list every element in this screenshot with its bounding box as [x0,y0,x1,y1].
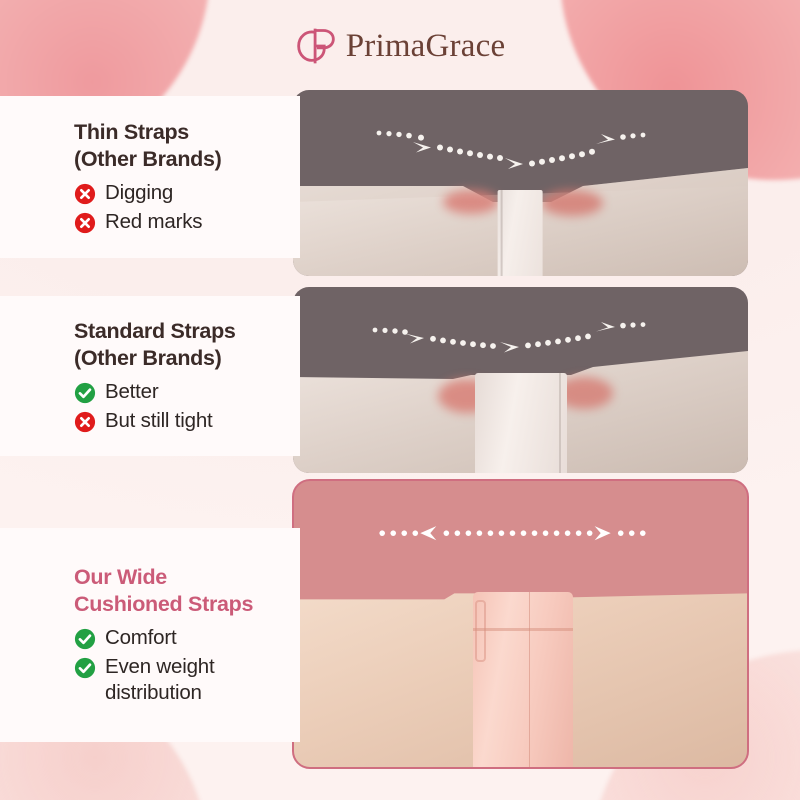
photo-wide-cushioned-straps [294,481,747,767]
promo-infographic: PrimaGrace [0,0,800,800]
photo-panel-standard-straps [293,287,748,473]
bullet-label: Even weight distribution [105,654,214,706]
bullet-label: But still tight [105,408,213,434]
bullet-item: But still tight [74,408,300,434]
card-title-standard-straps: Standard Straps (Other Brands) [74,318,300,372]
arrow-overlay-wide [294,481,747,767]
bullet-list-standard-straps: Better But still tight [74,379,300,434]
check-icon [74,382,96,404]
bullet-item: Better [74,379,300,405]
arrow-overlay-thin [293,90,748,276]
bullet-list-our-wide-cushioned-straps: Comfort Even weight distribution [74,625,300,706]
arrow-overlay-standard [293,287,748,473]
cross-icon [74,411,96,433]
bullet-item: Digging [74,180,300,206]
bullet-label: Digging [105,180,173,206]
bullet-list-thin-straps: Digging Red marks [74,180,300,235]
text-card-standard-straps: Standard Straps (Other Brands) Better Bu… [0,296,300,456]
cross-icon [74,212,96,234]
text-card-thin-straps: Thin Straps (Other Brands) Digging Red m… [0,96,300,258]
check-icon [74,628,96,650]
bullet-item: Comfort [74,625,300,651]
text-card-our-wide-cushioned-straps: Our Wide Cushioned Straps Comfort Even w… [0,528,300,742]
bullet-label: Comfort [105,625,177,651]
check-icon [74,657,96,679]
pg-monogram-icon [295,24,337,68]
brand-name: PrimaGrace [346,30,506,63]
cross-icon [74,183,96,205]
bullet-item: Red marks [74,209,300,235]
brand-header: PrimaGrace [0,20,800,72]
card-title-our-wide-cushioned-straps: Our Wide Cushioned Straps [74,564,300,618]
bullet-item: Even weight distribution [74,654,300,706]
photo-panel-our-wide-cushioned-straps [292,479,749,769]
card-title-thin-straps: Thin Straps (Other Brands) [74,119,300,173]
photo-panel-thin-straps [293,90,748,276]
bullet-label: Better [105,379,159,405]
photo-standard-straps [293,287,748,473]
photo-thin-straps [293,90,748,276]
bullet-label: Red marks [105,209,202,235]
